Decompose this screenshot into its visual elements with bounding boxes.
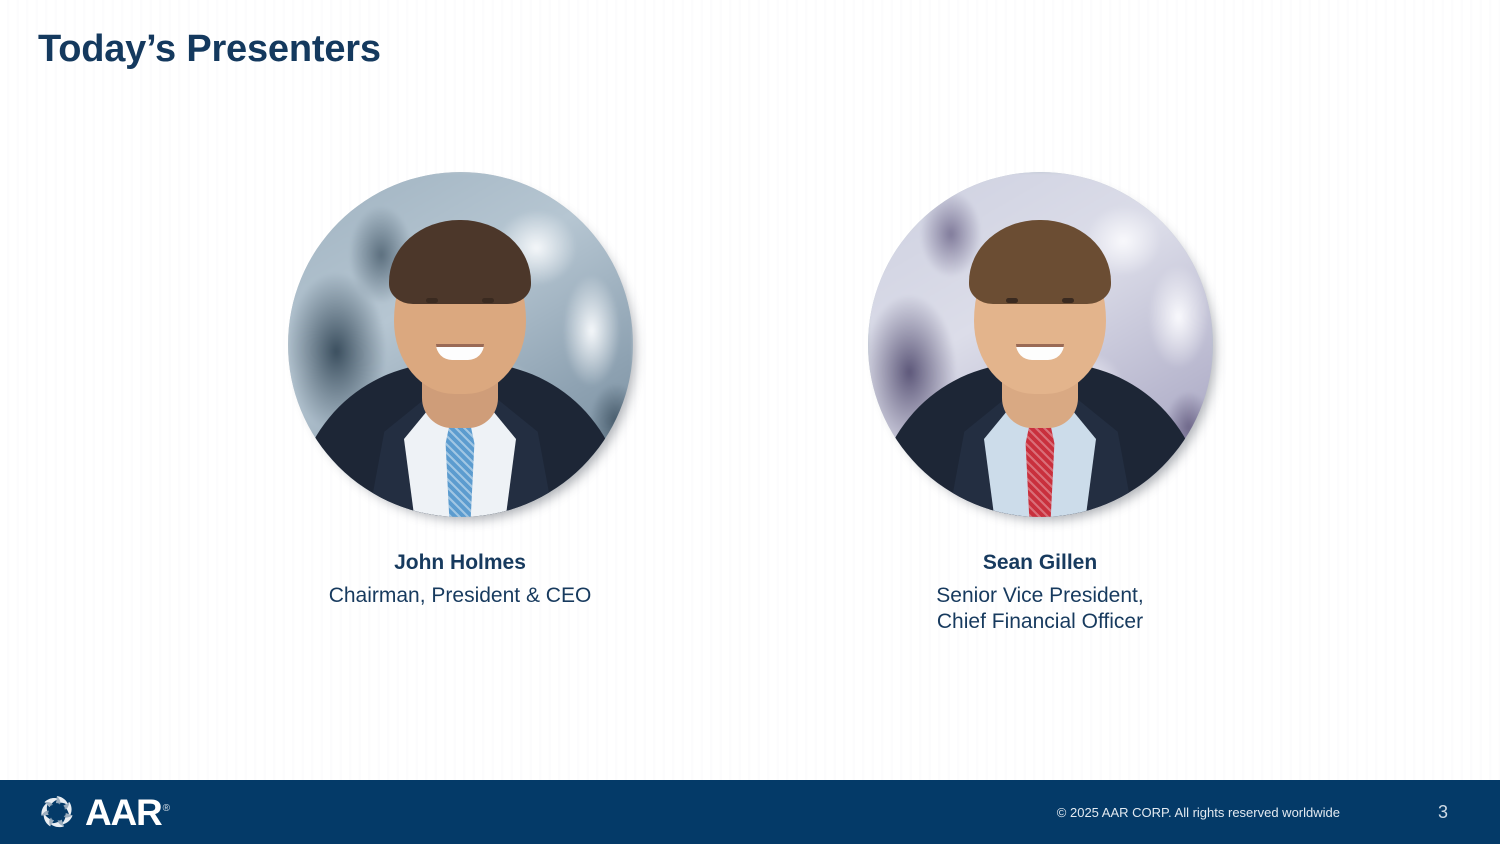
presenter-photo-sean-gillen — [868, 172, 1213, 517]
presenter-name: John Holmes — [394, 549, 526, 577]
slide-footer: AAR® © 2025 AAR CORP. All rights reserve… — [0, 780, 1500, 844]
presenter-card-john-holmes: John Holmes Chairman, President & CEO — [170, 160, 750, 609]
presenter-card-sean-gillen: Sean Gillen Senior Vice President, Chief… — [750, 160, 1330, 635]
page-title: Today’s Presenters — [38, 28, 381, 71]
registered-trademark-icon: ® — [163, 803, 169, 814]
eye-right-shape — [482, 298, 494, 303]
presenter-role: Chairman, President & CEO — [329, 583, 592, 609]
slide: Today’s Presenters — [0, 0, 1500, 844]
presenter-name: Sean Gillen — [983, 549, 1097, 577]
aar-pinwheel-icon — [36, 791, 78, 833]
presenter-photo-wrap-1 — [288, 172, 633, 517]
eye-left-shape — [1006, 298, 1018, 303]
copyright-text: © 2025 AAR CORP. All rights reserved wor… — [1057, 805, 1340, 820]
presenter-photo-wrap-2 — [868, 172, 1213, 517]
presenter-role: Senior Vice President, Chief Financial O… — [936, 583, 1143, 634]
page-number: 3 — [1438, 802, 1448, 823]
presenters-row: John Holmes Chairman, President & CEO — [0, 160, 1500, 635]
aar-logo: AAR® — [36, 791, 169, 833]
aar-wordmark-text: AAR — [85, 792, 162, 833]
presenter-photo-john-holmes — [288, 172, 633, 517]
eye-left-shape — [426, 298, 438, 303]
aar-wordmark: AAR® — [85, 794, 169, 831]
eye-right-shape — [1062, 298, 1074, 303]
